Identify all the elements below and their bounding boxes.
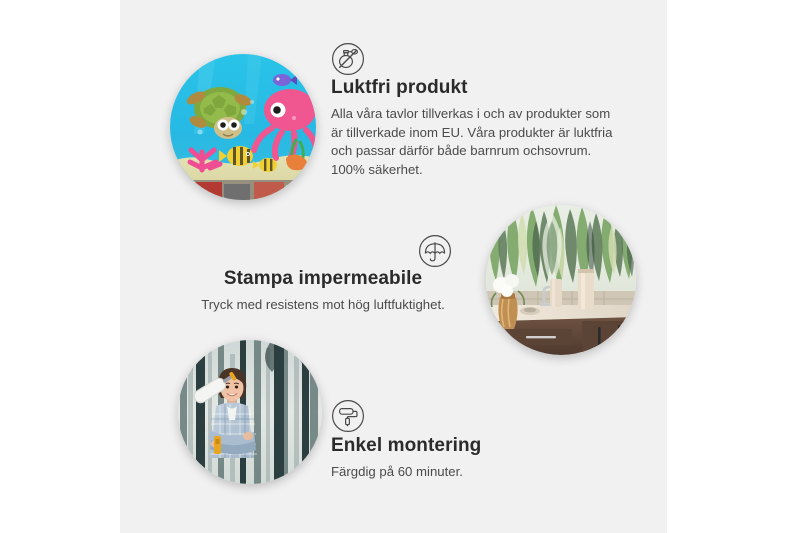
- feature-text-waterproof-print: Stampa impermeabile Tryck med resistens …: [178, 268, 468, 315]
- feature-heading: Stampa impermeabile: [178, 268, 468, 291]
- underwater-cartoon-mural-photo: [170, 54, 316, 200]
- feature-heading: Luktfri produkt: [331, 77, 623, 100]
- paint-roller-icon: [331, 399, 365, 433]
- promo-banner: Luktfri produkt Alla våra tavlor tillver…: [0, 0, 800, 533]
- bathroom-green-leaf-wallpaper-photo: [486, 205, 636, 355]
- feature-text-odor-free: Luktfri produkt Alla våra tavlor tillver…: [331, 77, 623, 180]
- feature-heading: Enkel montering: [331, 435, 621, 458]
- feature-body: Färgdig på 60 minuter.: [331, 463, 621, 482]
- no-fragrance-icon: [331, 42, 365, 76]
- feature-body: Alla våra tavlor tillverkas i och av pro…: [331, 105, 623, 180]
- umbrella-icon: [418, 234, 452, 268]
- woman-paint-roller-forest-photo: [178, 340, 322, 484]
- feature-text-easy-mounting: Enkel montering Färgdig på 60 minuter.: [331, 435, 621, 482]
- feature-body: Tryck med resistens mot hög luftfuktighe…: [178, 296, 468, 315]
